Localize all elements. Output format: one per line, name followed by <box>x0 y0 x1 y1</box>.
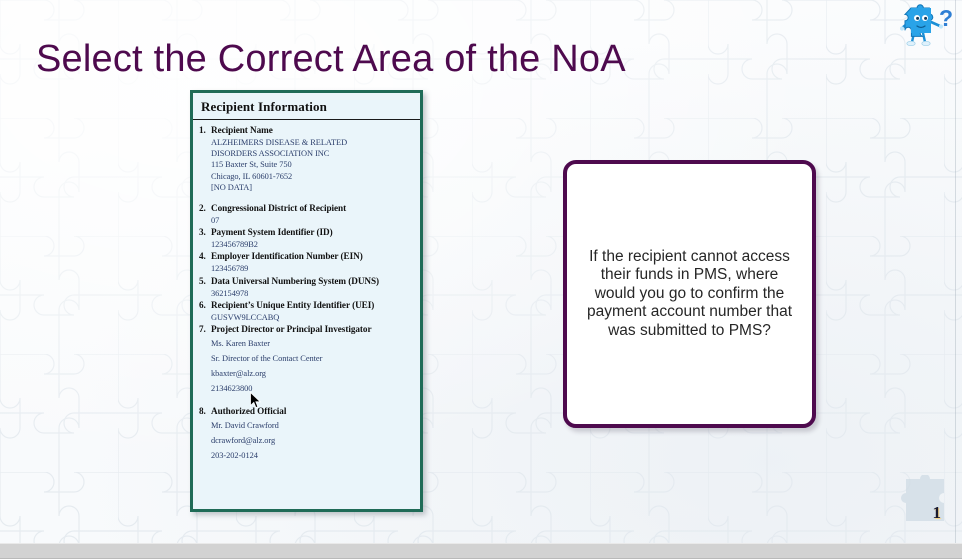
noa-field-value: 123456789 <box>211 263 414 274</box>
question-callout-box[interactable]: If the recipient cannot access their fun… <box>563 160 816 428</box>
noa-field-value: Mr. David Crawford <box>211 418 414 433</box>
noa-field-header: 5.Data Universal Numbering System (DUNS) <box>199 275 414 288</box>
noa-field-value: 123456789B2 <box>211 239 414 250</box>
noa-field-number: 5. <box>199 275 211 288</box>
noa-field-value: Ms. Karen Baxter <box>211 336 414 351</box>
noa-field[interactable]: 3.Payment System Identifier (ID)12345678… <box>199 226 414 250</box>
noa-field-value: Sr. Director of the Contact Center <box>211 351 414 366</box>
page-title: Select the Correct Area of the NoA <box>36 36 626 82</box>
question-mark-glyph: ? <box>939 5 953 31</box>
page-number-puzzle-piece-icon <box>892 475 952 531</box>
noa-field[interactable]: 4.Employer Identification Number (EIN)12… <box>199 250 414 274</box>
page-number-group: 1 <box>892 475 952 531</box>
noa-field[interactable]: 2.Congressional District of Recipient07 <box>199 202 414 226</box>
noa-field-label: Recipient Name <box>211 124 414 137</box>
noa-field-label: Project Director or Principal Investigat… <box>211 323 414 336</box>
noa-field-values: GUSVW9LCCABQ <box>199 312 414 323</box>
noa-field-header: 6.Recipient’s Unique Entity Identifier (… <box>199 299 414 312</box>
noa-field-values: ALZHEIMERS DISEASE & RELATEDDISORDERS AS… <box>199 137 414 193</box>
noa-field-value: DISORDERS ASSOCIATION INC <box>211 148 414 159</box>
noa-field-header: 4.Employer Identification Number (EIN) <box>199 250 414 263</box>
noa-field-values: 123456789B2 <box>199 239 414 250</box>
noa-field-value: dcrawford@alz.org <box>211 433 414 448</box>
noa-field-value: Chicago, IL 60601-7652 <box>211 171 414 182</box>
noa-field-spacer <box>199 193 414 202</box>
noa-field-value: [NO DATA] <box>211 182 414 193</box>
question-text: If the recipient cannot access their fun… <box>581 248 798 341</box>
noa-field-number: 3. <box>199 226 211 239</box>
slide-canvas: Select the Correct Area of the NoA ? Rec… <box>0 0 962 543</box>
noa-field-label: Payment System Identifier (ID) <box>211 226 414 239</box>
noa-field-header: 1.Recipient Name <box>199 124 414 137</box>
noa-field-number: 1. <box>199 124 211 137</box>
noa-field-value: 2134623800 <box>211 381 414 396</box>
noa-card-header: Recipient Information <box>193 93 420 119</box>
noa-field-number: 6. <box>199 299 211 312</box>
puzzle-character-icon: ? <box>900 2 954 48</box>
noa-field-header: 8.Authorized Official <box>199 405 414 418</box>
noa-field-spacer <box>199 396 414 405</box>
noa-card-body: 1.Recipient NameALZHEIMERS DISEASE & REL… <box>193 124 420 469</box>
noa-field-header: 2.Congressional District of Recipient <box>199 202 414 215</box>
noa-field-value: GUSVW9LCCABQ <box>211 312 414 323</box>
noa-field[interactable]: 5.Data Universal Numbering System (DUNS)… <box>199 275 414 299</box>
noa-field-label: Data Universal Numbering System (DUNS) <box>211 275 414 288</box>
noa-field-number: 4. <box>199 250 211 263</box>
noa-field-header: 3.Payment System Identifier (ID) <box>199 226 414 239</box>
noa-field-value: ALZHEIMERS DISEASE & RELATED <box>211 137 414 148</box>
right-edge-hairline <box>955 0 956 543</box>
noa-field-number: 7. <box>199 323 211 336</box>
noa-field-label: Employer Identification Number (EIN) <box>211 250 414 263</box>
noa-field-values: 123456789 <box>199 263 414 274</box>
noa-card-divider <box>193 119 420 120</box>
noa-field[interactable]: 6.Recipient’s Unique Entity Identifier (… <box>199 299 414 323</box>
bottom-toolbar-strip <box>0 543 962 559</box>
noa-field[interactable]: 1.Recipient NameALZHEIMERS DISEASE & REL… <box>199 124 414 193</box>
noa-field-number: 2. <box>199 202 211 215</box>
noa-field-value: kbaxter@alz.org <box>211 366 414 381</box>
noa-field-label: Recipient’s Unique Entity Identifier (UE… <box>211 299 414 312</box>
noa-field-header: 7.Project Director or Principal Investig… <box>199 323 414 336</box>
noa-field-value: 362154978 <box>211 288 414 299</box>
noa-field[interactable]: 8.Authorized OfficialMr. David Crawfordd… <box>199 405 414 463</box>
noa-field-number: 8. <box>199 405 211 418</box>
noa-field-values: Mr. David Crawforddcrawford@alz.org203-2… <box>199 418 414 463</box>
noa-field[interactable]: 7.Project Director or Principal Investig… <box>199 323 414 396</box>
page-number: 1 <box>933 503 942 523</box>
noa-field-values: 362154978 <box>199 288 414 299</box>
noa-field-label: Authorized Official <box>211 405 414 418</box>
noa-field-value: 07 <box>211 215 414 226</box>
noa-field-value: 203-202-0124 <box>211 448 414 463</box>
noa-field-value: 115 Baxter St, Suite 750 <box>211 159 414 170</box>
noa-field-values: 07 <box>199 215 414 226</box>
noa-field-values: Ms. Karen BaxterSr. Director of the Cont… <box>199 336 414 396</box>
noa-field-label: Congressional District of Recipient <box>211 202 414 215</box>
noa-recipient-information-card[interactable]: Recipient Information 1.Recipient NameAL… <box>190 90 423 512</box>
